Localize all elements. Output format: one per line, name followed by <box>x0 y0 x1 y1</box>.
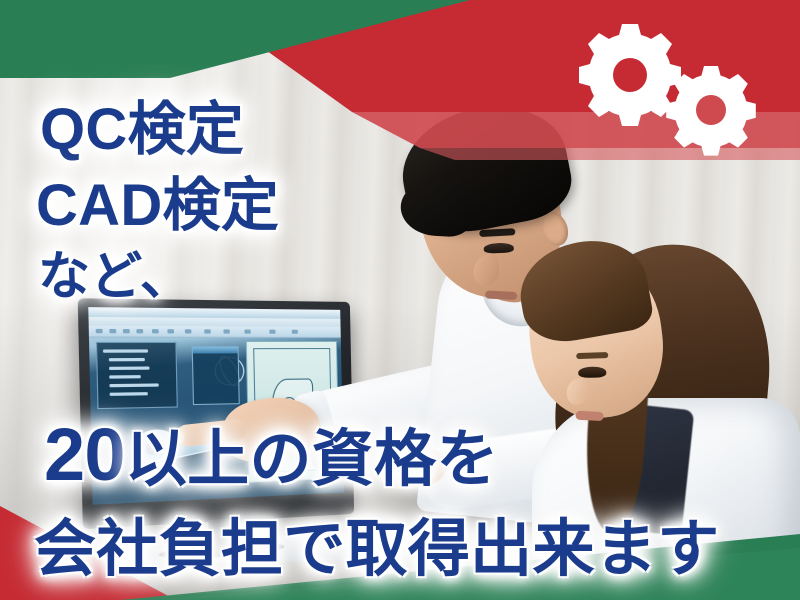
subheadline-line-1-rest: 以上の資格を <box>125 425 499 494</box>
qc-cad-certification-banner: QC検定 CAD検定 など、 20以上の資格を 会社負担で取得出来ます <box>0 0 800 600</box>
headline-copy: QC検定 CAD検定 など、 20以上の資格を 会社負担で取得出来ます <box>0 0 800 600</box>
headline-line-3: など、 <box>38 234 192 309</box>
subheadline-line-1: 20以上の資格を <box>44 408 499 498</box>
subheadline-line-2: 会社負担で取得出来ます <box>34 498 719 588</box>
certification-count: 20 <box>44 413 125 496</box>
headline-line-1: QC検定 <box>40 82 244 166</box>
headline-line-2: CAD検定 <box>36 158 279 242</box>
